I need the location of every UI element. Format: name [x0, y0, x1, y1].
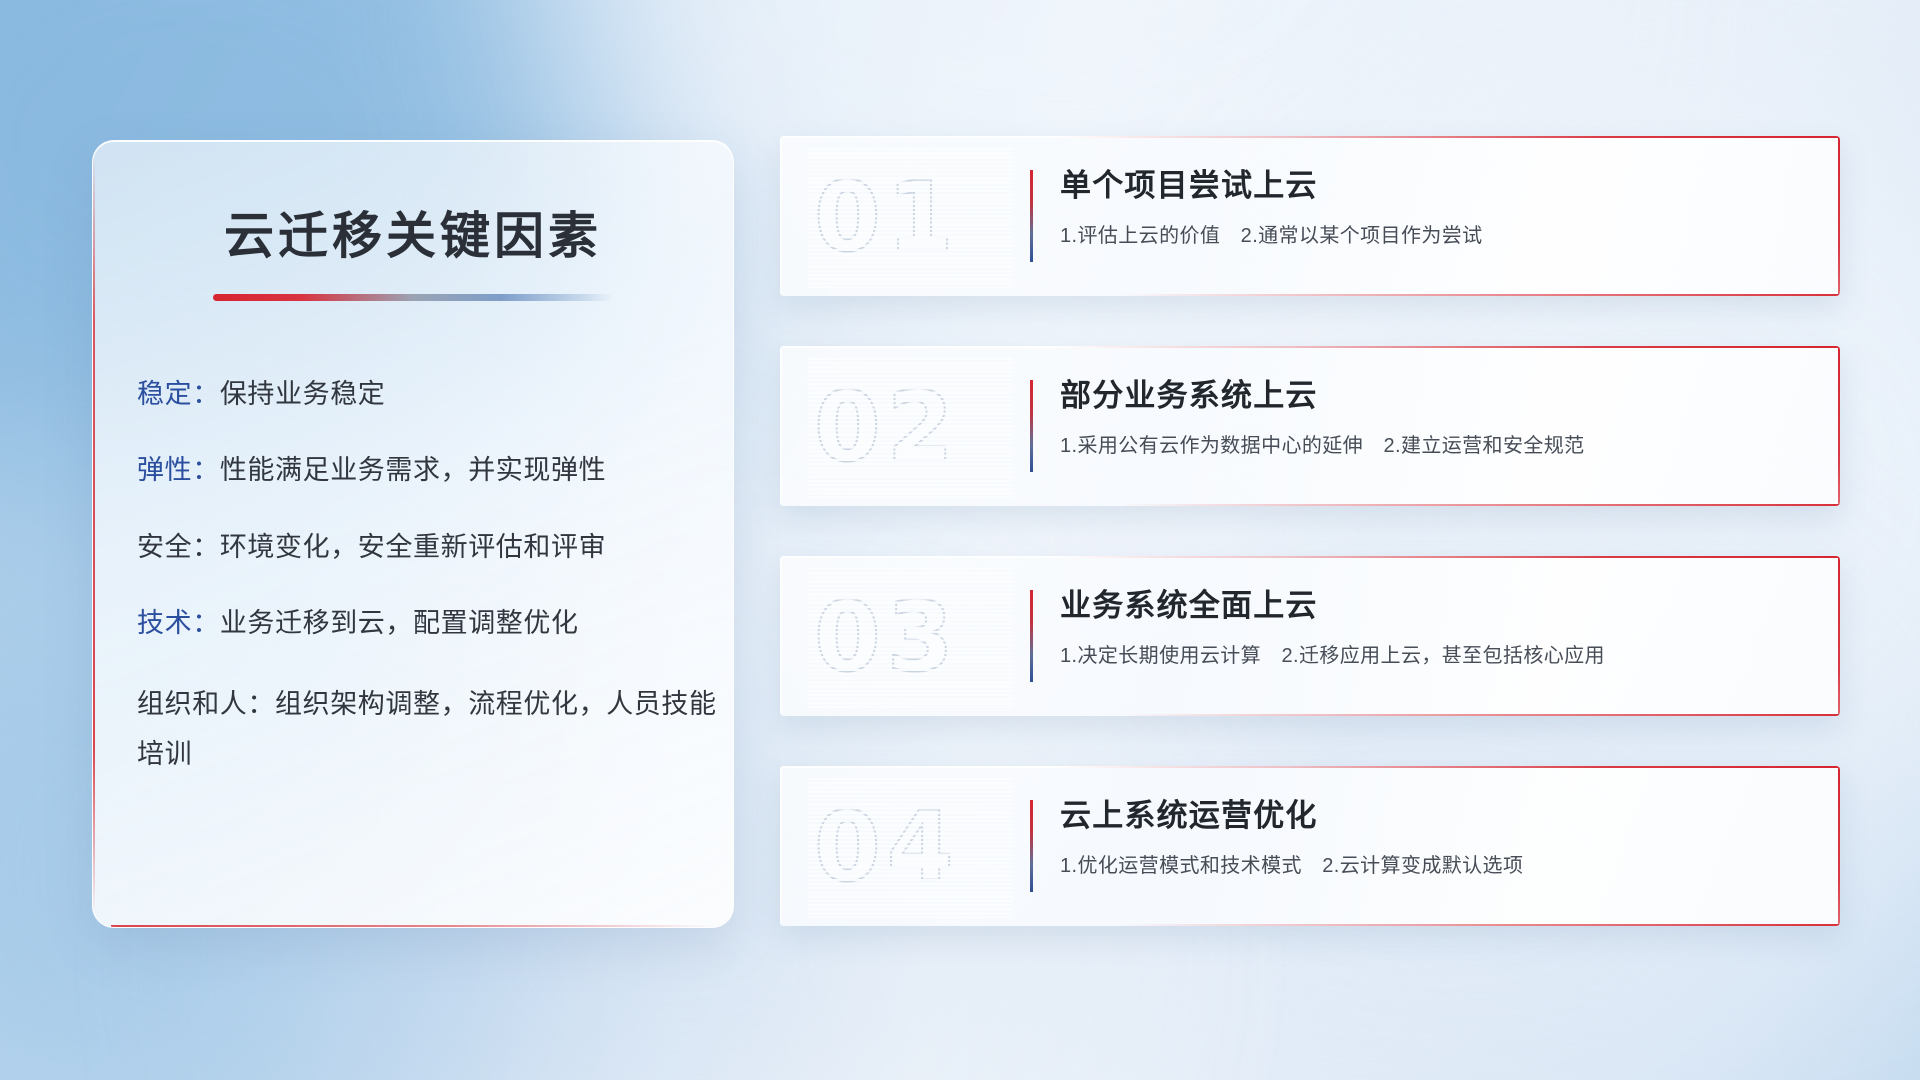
list-item-label: 稳定：: [137, 379, 220, 409]
list-item-label: 弹性：: [137, 455, 220, 485]
list-item: 弹性：性能满足业务需求，并实现弹性: [137, 451, 733, 489]
list-item-label: 技术：: [137, 608, 220, 638]
card-accent-bar: [1030, 590, 1033, 682]
card-description: 1.决定长期使用云计算 2.迁移应用上云，甚至包括核心应用: [1060, 639, 1800, 668]
card-accent-bar: [1030, 170, 1033, 262]
card-number-watermark: 02: [814, 362, 1004, 492]
card-bottom-edge: [1119, 504, 1840, 506]
card-number-watermark: 03: [814, 572, 1004, 702]
list-item-label: 组织和人：: [137, 689, 275, 719]
list-item: 稳定：保持业务稳定: [137, 375, 733, 413]
stage-cards-list: 01 单个项目尝试上云 1.评估上云的价值 2.通常以某个项目作为尝试 02 部…: [780, 136, 1840, 926]
list-item-text: 环境变化，安全重新评估和评审: [220, 532, 606, 562]
card-bottom-edge: [1119, 924, 1840, 926]
stage-card[interactable]: 01 单个项目尝试上云 1.评估上云的价值 2.通常以某个项目作为尝试: [780, 136, 1840, 296]
card-body: 部分业务系统上云 1.采用公有云作为数据中心的延伸 2.建立运营和安全规范: [1060, 370, 1800, 458]
card-title: 业务系统全面上云: [1060, 580, 1800, 625]
card-title: 部分业务系统上云: [1060, 370, 1800, 415]
card-body: 业务系统全面上云 1.决定长期使用云计算 2.迁移应用上云，甚至包括核心应用: [1060, 580, 1800, 668]
list-item: 组织和人：组织架构调整，流程优化，人员技能培训: [137, 680, 733, 780]
card-description: 1.采用公有云作为数据中心的延伸 2.建立运营和安全规范: [1060, 429, 1800, 458]
card-bottom-edge: [1119, 714, 1840, 716]
list-item-label: 安全：: [137, 532, 220, 562]
card-title: 单个项目尝试上云: [1060, 160, 1800, 205]
card-left-edge: [780, 346, 782, 506]
card-description: 1.优化运营模式和技术模式 2.云计算变成默认选项: [1060, 849, 1800, 878]
card-title: 云上系统运营优化: [1060, 790, 1800, 835]
panel-title: 云迁移关键因素: [93, 141, 733, 268]
card-right-edge: [1838, 766, 1840, 926]
list-item: 技术：业务迁移到云，配置调整优化: [137, 604, 733, 642]
key-factors-list: 稳定：保持业务稳定 弹性：性能满足业务需求，并实现弹性 安全：环境变化，安全重新…: [93, 301, 733, 780]
list-item-text: 业务迁移到云，配置调整优化: [220, 608, 579, 638]
card-body: 云上系统运营优化 1.优化运营模式和技术模式 2.云计算变成默认选项: [1060, 790, 1800, 878]
card-right-edge: [1838, 556, 1840, 716]
card-left-edge: [780, 556, 782, 716]
card-top-edge: [780, 766, 1840, 768]
card-left-edge: [780, 136, 782, 296]
title-underline-rule: [213, 294, 613, 301]
list-item-text: 性能满足业务需求，并实现弹性: [220, 455, 606, 485]
card-right-edge: [1838, 346, 1840, 506]
card-number-watermark: 01: [814, 152, 1004, 282]
card-top-edge: [780, 136, 1840, 138]
card-description: 1.评估上云的价值 2.通常以某个项目作为尝试: [1060, 219, 1800, 248]
card-left-edge: [780, 766, 782, 926]
key-factors-panel: 云迁移关键因素 稳定：保持业务稳定 弹性：性能满足业务需求，并实现弹性 安全：环…: [92, 140, 734, 928]
card-accent-bar: [1030, 380, 1033, 472]
card-bottom-edge: [1119, 294, 1840, 296]
card-body: 单个项目尝试上云 1.评估上云的价值 2.通常以某个项目作为尝试: [1060, 160, 1800, 248]
list-item-text: 保持业务稳定: [220, 379, 386, 409]
card-top-edge: [780, 556, 1840, 558]
stage-card[interactable]: 04 云上系统运营优化 1.优化运营模式和技术模式 2.云计算变成默认选项: [780, 766, 1840, 926]
stage-card[interactable]: 03 业务系统全面上云 1.决定长期使用云计算 2.迁移应用上云，甚至包括核心应…: [780, 556, 1840, 716]
stage-card[interactable]: 02 部分业务系统上云 1.采用公有云作为数据中心的延伸 2.建立运营和安全规范: [780, 346, 1840, 506]
card-right-edge: [1838, 136, 1840, 296]
card-accent-bar: [1030, 800, 1033, 892]
card-top-edge: [780, 346, 1840, 348]
card-number-watermark: 04: [814, 782, 1004, 912]
list-item: 安全：环境变化，安全重新评估和评审: [137, 528, 733, 566]
